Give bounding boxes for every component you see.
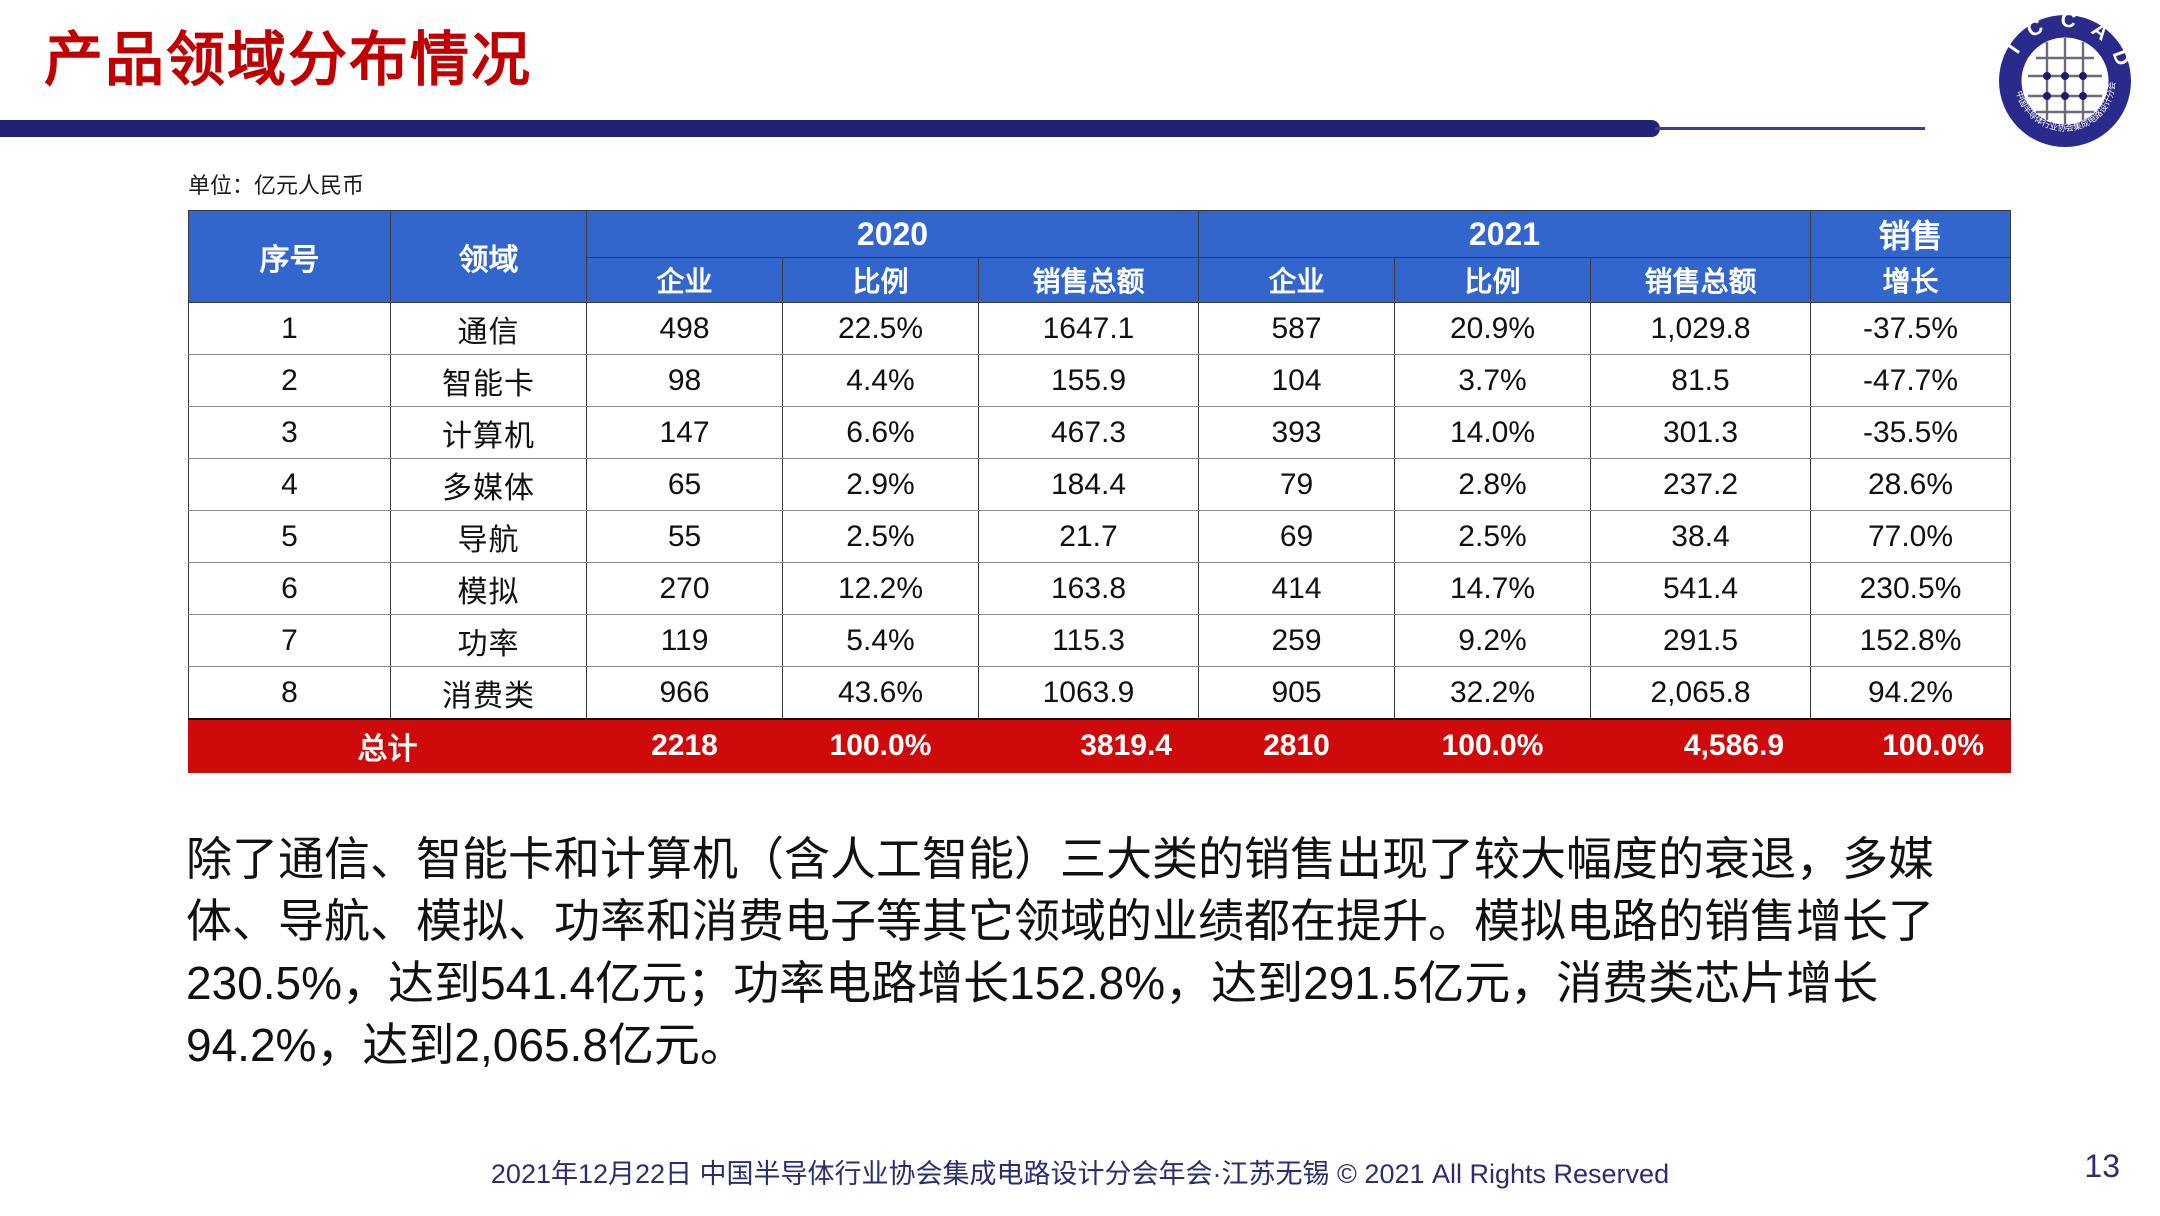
total-label: 总计 <box>189 719 587 773</box>
cell-ratio-2020: 5.4% <box>783 615 979 667</box>
cell-companies-2021: 905 <box>1199 667 1395 720</box>
cell-index: 3 <box>189 407 391 459</box>
col-header-companies-2021: 企业 <box>1199 258 1395 303</box>
cell-ratio-2021: 14.0% <box>1395 407 1591 459</box>
cell-ratio-2021: 2.5% <box>1395 511 1591 563</box>
table-head: 序号 领域 2020 2021 销售 企业 比例 销售总额 企业 比例 销售总额… <box>189 211 2011 303</box>
table-row: 4多媒体652.9%184.4792.8%237.228.6% <box>189 459 2011 511</box>
col-header-growth-top: 销售 <box>1811 211 2011 258</box>
cell-sales-2021: 237.2 <box>1591 459 1811 511</box>
cell-companies-2020: 966 <box>587 667 783 720</box>
total-sales-2020: 3819.4 <box>979 719 1199 773</box>
title-divider <box>0 120 1920 138</box>
cell-sales-2020: 21.7 <box>979 511 1199 563</box>
cell-growth: -47.7% <box>1811 355 2011 407</box>
cell-field: 智能卡 <box>391 355 587 407</box>
cell-sales-2020: 155.9 <box>979 355 1199 407</box>
col-header-field: 领域 <box>391 211 587 303</box>
footer-text: 2021年12月22日 中国半导体行业协会集成电路设计分会年会·江苏无锡 © 2… <box>0 1152 2160 1191</box>
total-sales-2021: 4,586.9 <box>1591 719 1811 773</box>
table-row: 6模拟27012.2%163.841414.7%541.4230.5% <box>189 563 2011 615</box>
total-companies-2021: 2810 <box>1199 719 1395 773</box>
table-row: 3计算机1476.6%467.339314.0%301.3-35.5% <box>189 407 2011 459</box>
cell-field: 消费类 <box>391 667 587 720</box>
cell-companies-2020: 270 <box>587 563 783 615</box>
cell-companies-2021: 69 <box>1199 511 1395 563</box>
table-body: 1通信49822.5%1647.158720.9%1,029.8-37.5%2智… <box>189 303 2011 773</box>
col-header-ratio-2020: 比例 <box>783 258 979 303</box>
table-row: 8消费类96643.6%1063.990532.2%2,065.894.2% <box>189 667 2011 720</box>
cell-ratio-2020: 4.4% <box>783 355 979 407</box>
cell-index: 7 <box>189 615 391 667</box>
cell-growth: 230.5% <box>1811 563 2011 615</box>
cell-companies-2021: 587 <box>1199 303 1395 355</box>
title-divider-thin <box>1655 127 1925 130</box>
iccad-logo-icon: I C C A D 中国半导体行业协会集成电路设计分会 <box>1992 8 2138 154</box>
page-title: 产品领域分布情况 <box>44 12 532 97</box>
cell-ratio-2021: 2.8% <box>1395 459 1591 511</box>
cell-sales-2020: 1647.1 <box>979 303 1199 355</box>
total-companies-2020: 2218 <box>587 719 783 773</box>
cell-sales-2021: 81.5 <box>1591 355 1811 407</box>
col-header-ratio-2021: 比例 <box>1395 258 1591 303</box>
col-header-sales-2021: 销售总额 <box>1591 258 1811 303</box>
table-row: 7功率1195.4%115.32599.2%291.5152.8% <box>189 615 2011 667</box>
cell-companies-2020: 98 <box>587 355 783 407</box>
cell-index: 4 <box>189 459 391 511</box>
total-ratio-2020: 100.0% <box>783 719 979 773</box>
cell-sales-2020: 163.8 <box>979 563 1199 615</box>
cell-companies-2020: 119 <box>587 615 783 667</box>
cell-companies-2021: 79 <box>1199 459 1395 511</box>
cell-ratio-2020: 43.6% <box>783 667 979 720</box>
cell-field: 导航 <box>391 511 587 563</box>
cell-sales-2021: 2,065.8 <box>1591 667 1811 720</box>
cell-field: 模拟 <box>391 563 587 615</box>
unit-label: 单位：亿元人民币 <box>188 168 364 200</box>
cell-companies-2021: 414 <box>1199 563 1395 615</box>
total-ratio-2021: 100.0% <box>1395 719 1591 773</box>
cell-companies-2020: 498 <box>587 303 783 355</box>
table-header-row-1: 序号 领域 2020 2021 销售 <box>189 211 2011 258</box>
col-header-sales-2020: 销售总额 <box>979 258 1199 303</box>
cell-sales-2021: 291.5 <box>1591 615 1811 667</box>
cell-ratio-2020: 2.5% <box>783 511 979 563</box>
cell-index: 8 <box>189 667 391 720</box>
cell-companies-2020: 147 <box>587 407 783 459</box>
cell-ratio-2021: 3.7% <box>1395 355 1591 407</box>
body-paragraph: 除了通信、智能卡和计算机（含人工智能）三大类的销售出现了较大幅度的衰退，多媒体、… <box>186 828 1976 1076</box>
cell-growth: 28.6% <box>1811 459 2011 511</box>
cell-ratio-2020: 2.9% <box>783 459 979 511</box>
cell-index: 2 <box>189 355 391 407</box>
table: 序号 领域 2020 2021 销售 企业 比例 销售总额 企业 比例 销售总额… <box>188 210 2011 773</box>
cell-ratio-2021: 9.2% <box>1395 615 1591 667</box>
cell-growth: -37.5% <box>1811 303 2011 355</box>
product-field-table: 序号 领域 2020 2021 销售 企业 比例 销售总额 企业 比例 销售总额… <box>188 210 1970 773</box>
cell-companies-2021: 104 <box>1199 355 1395 407</box>
cell-field: 功率 <box>391 615 587 667</box>
cell-ratio-2020: 22.5% <box>783 303 979 355</box>
cell-growth: -35.5% <box>1811 407 2011 459</box>
cell-field: 多媒体 <box>391 459 587 511</box>
cell-companies-2021: 393 <box>1199 407 1395 459</box>
page-number: 13 <box>2084 1148 2120 1185</box>
col-header-companies-2020: 企业 <box>587 258 783 303</box>
cell-companies-2020: 65 <box>587 459 783 511</box>
table-total-row: 总计2218100.0%3819.42810100.0%4,586.9100.0… <box>189 719 2011 773</box>
cell-growth: 152.8% <box>1811 615 2011 667</box>
table-row: 2智能卡984.4%155.91043.7%81.5-47.7% <box>189 355 2011 407</box>
cell-sales-2021: 38.4 <box>1591 511 1811 563</box>
cell-companies-2020: 55 <box>587 511 783 563</box>
title-divider-thick <box>0 120 1660 137</box>
cell-companies-2021: 259 <box>1199 615 1395 667</box>
table-row: 5导航552.5%21.7692.5%38.477.0% <box>189 511 2011 563</box>
cell-field: 计算机 <box>391 407 587 459</box>
col-group-2021: 2021 <box>1199 211 1811 258</box>
cell-index: 6 <box>189 563 391 615</box>
cell-sales-2021: 1,029.8 <box>1591 303 1811 355</box>
cell-growth: 77.0% <box>1811 511 2011 563</box>
cell-sales-2020: 1063.9 <box>979 667 1199 720</box>
cell-ratio-2020: 6.6% <box>783 407 979 459</box>
cell-sales-2020: 115.3 <box>979 615 1199 667</box>
col-group-2020: 2020 <box>587 211 1199 258</box>
cell-ratio-2021: 20.9% <box>1395 303 1591 355</box>
cell-sales-2020: 467.3 <box>979 407 1199 459</box>
cell-ratio-2021: 14.7% <box>1395 563 1591 615</box>
cell-sales-2020: 184.4 <box>979 459 1199 511</box>
cell-growth: 94.2% <box>1811 667 2011 720</box>
cell-field: 通信 <box>391 303 587 355</box>
cell-ratio-2021: 32.2% <box>1395 667 1591 720</box>
col-header-growth-bottom: 增长 <box>1811 258 2011 303</box>
cell-index: 1 <box>189 303 391 355</box>
cell-sales-2021: 301.3 <box>1591 407 1811 459</box>
col-header-index: 序号 <box>189 211 391 303</box>
cell-sales-2021: 541.4 <box>1591 563 1811 615</box>
total-growth: 100.0% <box>1811 719 2011 773</box>
table-row: 1通信49822.5%1647.158720.9%1,029.8-37.5% <box>189 303 2011 355</box>
cell-index: 5 <box>189 511 391 563</box>
cell-ratio-2020: 12.2% <box>783 563 979 615</box>
